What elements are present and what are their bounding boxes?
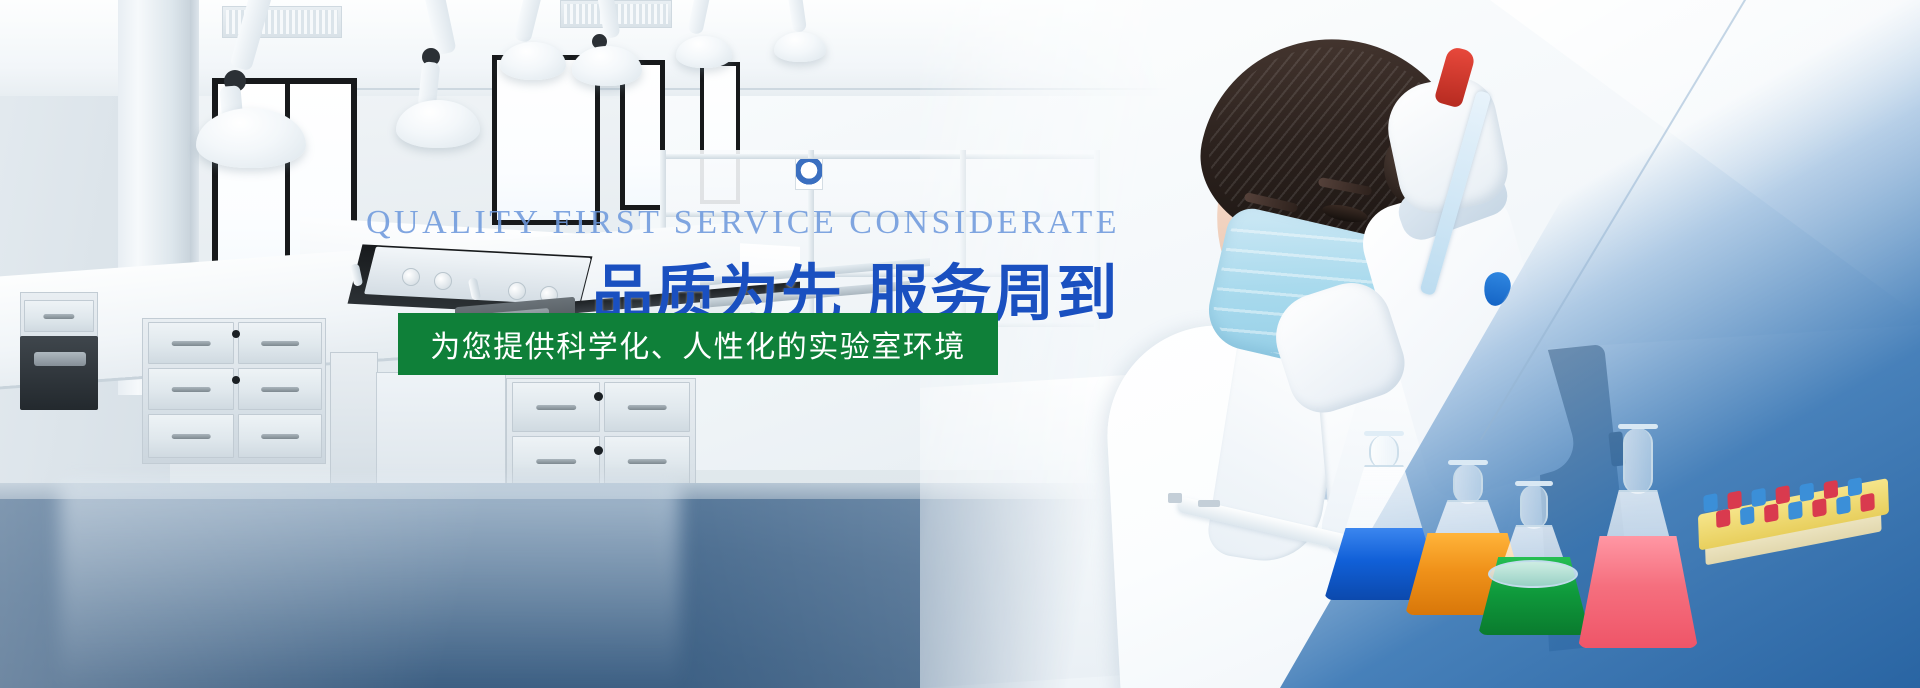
- subtitle-text: 为您提供科学化、人性化的实验室环境: [430, 322, 966, 366]
- banner-copy: QUALITY FIRST SERVICE CONSIDERATE 品质为先 服…: [0, 0, 1920, 688]
- hero-banner: QUALITY FIRST SERVICE CONSIDERATE 品质为先 服…: [0, 0, 1920, 688]
- english-tagline: QUALITY FIRST SERVICE CONSIDERATE: [366, 204, 1120, 242]
- subtitle-bar: 为您提供科学化、人性化的实验室环境: [398, 313, 998, 375]
